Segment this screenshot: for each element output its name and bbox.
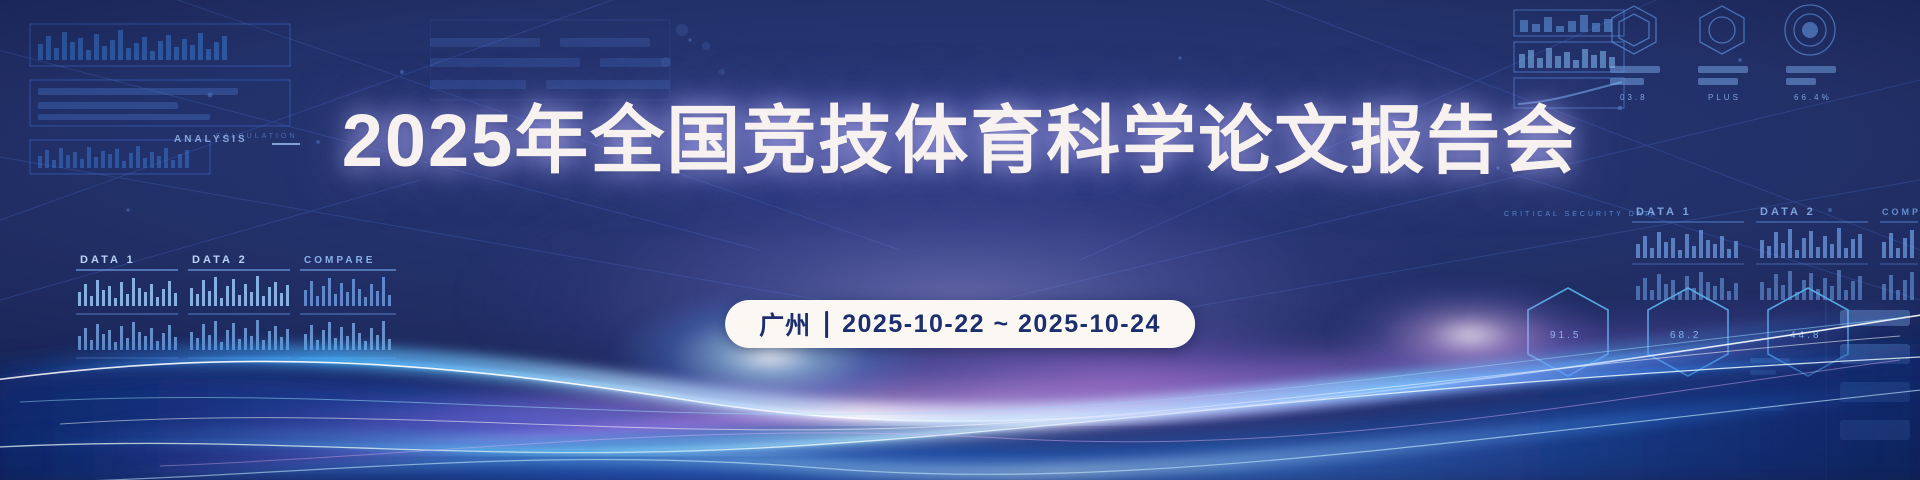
page-title: 2025年全国竞技体育科学论文报告会 xyxy=(342,104,1579,178)
location-date-badge: 广州 2025-10-22 ~ 2025-10-24 xyxy=(725,300,1195,348)
conference-banner: CALCULATION xyxy=(0,0,1920,480)
badge-separator-icon xyxy=(825,311,828,338)
badge-city-label: 广州 xyxy=(759,306,811,342)
badge-date-range-label: 2025-10-22 ~ 2025-10-24 xyxy=(842,310,1161,339)
banner-content: 2025年全国竞技体育科学论文报告会 广州 2025-10-22 ~ 2025-… xyxy=(0,0,1920,480)
